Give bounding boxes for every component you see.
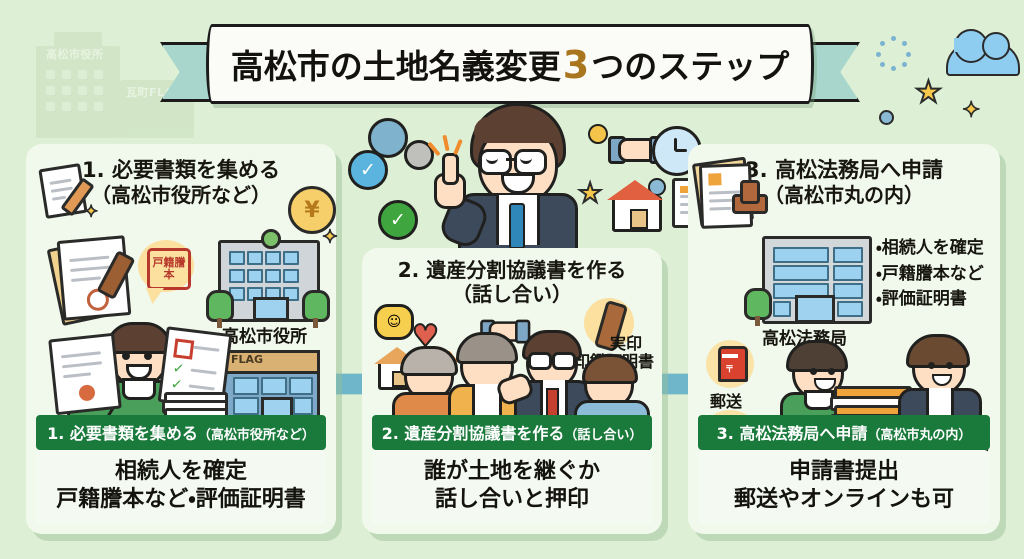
step-2-footer-body: 誰が土地を継ぐか 話し合いと押印 [372, 450, 652, 524]
tree-icon [206, 290, 234, 322]
guide-person [452, 103, 578, 243]
sparkle-icon: ✦ [322, 228, 338, 247]
check-circle-blue-icon: ✓ [348, 150, 388, 190]
bullet-item: ・相続人を確定 [876, 236, 984, 262]
flag-building: FLAG [222, 350, 320, 422]
smile-bubble-icon: ☺ [374, 304, 414, 340]
tree-icon [744, 288, 772, 320]
infographic-canvas: 高松市役所 瓦町FLAG ★ ✦ ✦ 高松市の土地名義変更3つのステップ ✓ ✓ [0, 0, 1024, 559]
step-2-footer-bar: 2. 遺産分割協議書を作る（話し合い） [372, 415, 652, 450]
step-1-panel[interactable]: 1. 必要書類を集める （高松市役所など） ✦ ¥ ✦ 戸籍謄本 [26, 144, 336, 534]
step-3-footer-body: 申請書提出 郵送やオンラインも可 [698, 450, 990, 524]
city-hall-watermark-label: 高松市役所 [46, 46, 104, 62]
step-3-footer-bar: 3. 高松法務局へ申請（高松市丸の内） [698, 415, 990, 450]
step-2-panel[interactable]: 2. 遺産分割協議書を作る （話し合い） ☺ ♥ 実印 印鑑証明書 [362, 248, 662, 534]
page-title: 高松市の土地名義変更3つのステップ [231, 40, 789, 88]
step-1-footer-body: 相続人を確定 戸籍謄本など・評価証明書 [36, 450, 326, 524]
koseki-stamp: 戸籍謄本 [147, 248, 191, 290]
flag-sign-label: FLAG [231, 353, 263, 366]
dot-icon [879, 110, 894, 125]
check-circle-green-icon: ✓ [378, 200, 418, 240]
star-icon: ★ [578, 180, 602, 207]
city-hall-label: 高松市役所 [222, 322, 307, 347]
bullet-item: ・戸籍謄本など [876, 262, 984, 288]
dot-icon [588, 124, 608, 144]
cloud-icon [946, 42, 1020, 76]
step-2-footer: 2. 遺産分割協議書を作る（話し合い） 誰が土地を継ぐか 話し合いと押印 [372, 415, 652, 524]
step-3-panel[interactable]: 3. 高松法務局へ申請 （高松市丸の内） 高松法務局 [688, 144, 1000, 534]
mail-method-label: 郵送 [710, 388, 742, 412]
step-3-footer: 3. 高松法務局へ申請（高松市丸の内） 申請書提出 郵送やオンラインも可 [698, 415, 990, 524]
dot-ring-icon [876, 36, 910, 70]
title-ribbon: 高松市の土地名義変更3つのステップ [160, 24, 860, 106]
step-3-bullet-list: ・相続人を確定 ・戸籍謄本など ・評価証明書 [876, 236, 984, 313]
star-icon: ★ [915, 78, 942, 108]
tree-icon [302, 290, 330, 322]
bullet-item: ・評価証明書 [876, 287, 984, 313]
sparkle-icon: ✦ [84, 204, 98, 221]
seal-icon [740, 180, 760, 204]
legal-bureau-building [762, 236, 872, 324]
house-icon [612, 196, 662, 232]
sparkle-icon: ✦ [962, 100, 980, 122]
step-1-footer: 1. 必要書類を集める（高松市役所など） 相続人を確定 戸籍謄本など・評価証明書 [36, 415, 326, 524]
stamp-bubble: 戸籍謄本 [138, 240, 194, 292]
mailbox-icon: 〒 [706, 340, 754, 388]
title-plate: 高松市の土地名義変更3つのステップ [206, 24, 814, 104]
step-1-footer-bar: 1. 必要書類を集める（高松市役所など） [36, 415, 326, 450]
